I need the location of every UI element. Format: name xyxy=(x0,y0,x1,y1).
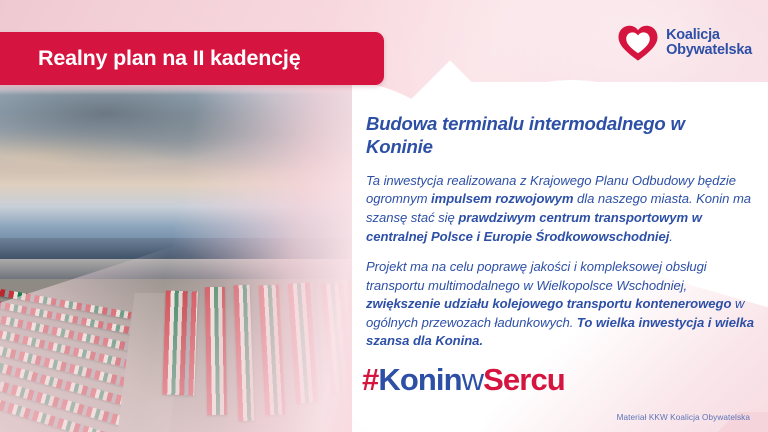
logo-wordmark: Koalicja Obywatelska xyxy=(666,28,752,58)
campaign-hashtag: #KoninwSercu xyxy=(362,364,565,395)
campaign-poster: Realny plan na II kadencję Koalicja Obyw… xyxy=(0,0,768,432)
hashtag-part-sercu: Sercu xyxy=(483,362,565,397)
logo-line-2: Obywatelska xyxy=(666,43,752,58)
content-column: Budowa terminalu intermodalnego w Konini… xyxy=(366,112,754,363)
paragraph-2: Projekt ma na celu poprawę jakości i kom… xyxy=(366,258,754,351)
logo-line-1: Koalicja xyxy=(666,28,752,43)
hashtag-part-w: w xyxy=(462,362,484,397)
page-title: Budowa terminalu intermodalnego w Konini… xyxy=(366,112,754,159)
koalicja-obywatelska-logo[interactable]: Koalicja Obywatelska xyxy=(617,24,752,62)
banner-label: Realny plan na II kadencję xyxy=(0,46,300,71)
photo-pink-tint xyxy=(0,85,352,432)
credit-text: Materiał KKW Koalicja Obywatelska xyxy=(617,413,750,422)
headline-banner: Realny plan na II kadencję xyxy=(0,32,384,85)
heart-icon xyxy=(617,24,659,62)
hashtag-part-konin: Konin xyxy=(378,362,461,397)
photo-top-fade xyxy=(0,85,352,95)
hashtag-symbol: # xyxy=(362,362,378,397)
paragraph-1: Ta inwestycja realizowana z Krajowego Pl… xyxy=(366,172,754,246)
terminal-photo xyxy=(0,85,352,432)
